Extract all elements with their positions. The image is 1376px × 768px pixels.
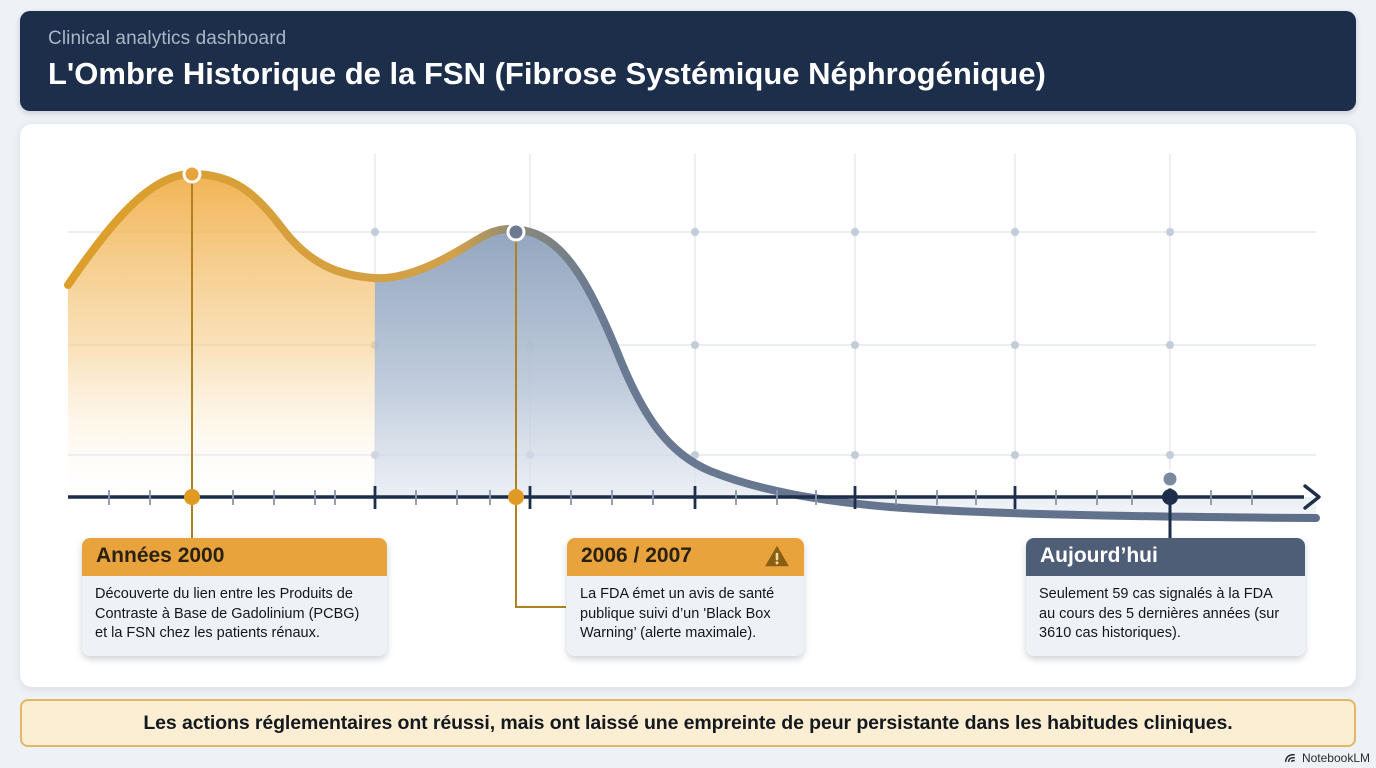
- notebooklm-icon: [1283, 751, 1297, 765]
- dashboard-page: Clinical analytics dashboard L'Ombre His…: [0, 0, 1376, 768]
- annotation-card-header: Années 2000: [82, 538, 387, 576]
- annotation-card-title: Années 2000: [96, 544, 224, 568]
- annotation-card-title: Aujourd’hui: [1040, 544, 1158, 568]
- marker-point-annees-2000[interactable]: [183, 165, 202, 184]
- axis-marker-annees-2000[interactable]: [184, 489, 200, 505]
- annotation-card-body: Seulement 59 cas signalés à la FDA au co…: [1026, 576, 1305, 656]
- annotation-card-body: Découverte du lien entre les Produits de…: [82, 576, 387, 656]
- annotation-card-header: Aujourd’hui: [1026, 538, 1305, 576]
- leader-line-card-2: [516, 539, 566, 607]
- watermark: NotebookLM: [1283, 751, 1370, 765]
- axis-marker-aujourdhui[interactable]: [1162, 489, 1178, 505]
- marker-point-2006-2007[interactable]: [507, 223, 526, 242]
- marker-point-aujourdhui[interactable]: [1161, 470, 1180, 489]
- header-kicker: Clinical analytics dashboard: [48, 27, 1328, 51]
- annotation-card-title: 2006 / 2007: [581, 544, 692, 568]
- annotation-card-header: 2006 / 2007: [567, 538, 804, 576]
- chart-panel: Années 2000 Découverte du lien entre les…: [20, 124, 1356, 687]
- header-banner: Clinical analytics dashboard L'Ombre His…: [20, 11, 1356, 111]
- annotation-card-aujourdhui[interactable]: Aujourd’hui Seulement 59 cas signalés à …: [1026, 538, 1305, 656]
- footer-takeaway-text: Les actions réglementaires ont réussi, m…: [143, 712, 1232, 735]
- warning-triangle-icon: [764, 544, 790, 568]
- watermark-label: NotebookLM: [1302, 751, 1370, 765]
- footer-banner: Les actions réglementaires ont réussi, m…: [20, 699, 1356, 747]
- annotation-card-2006-2007[interactable]: 2006 / 2007 La FDA émet un avis de santé…: [567, 538, 804, 656]
- page-title: L'Ombre Historique de la FSN (Fibrose Sy…: [48, 53, 1328, 95]
- axis-marker-2006-2007[interactable]: [508, 489, 524, 505]
- annotation-card-annees-2000[interactable]: Années 2000 Découverte du lien entre les…: [82, 538, 387, 656]
- annotation-card-body: La FDA émet un avis de santé publique su…: [567, 576, 804, 656]
